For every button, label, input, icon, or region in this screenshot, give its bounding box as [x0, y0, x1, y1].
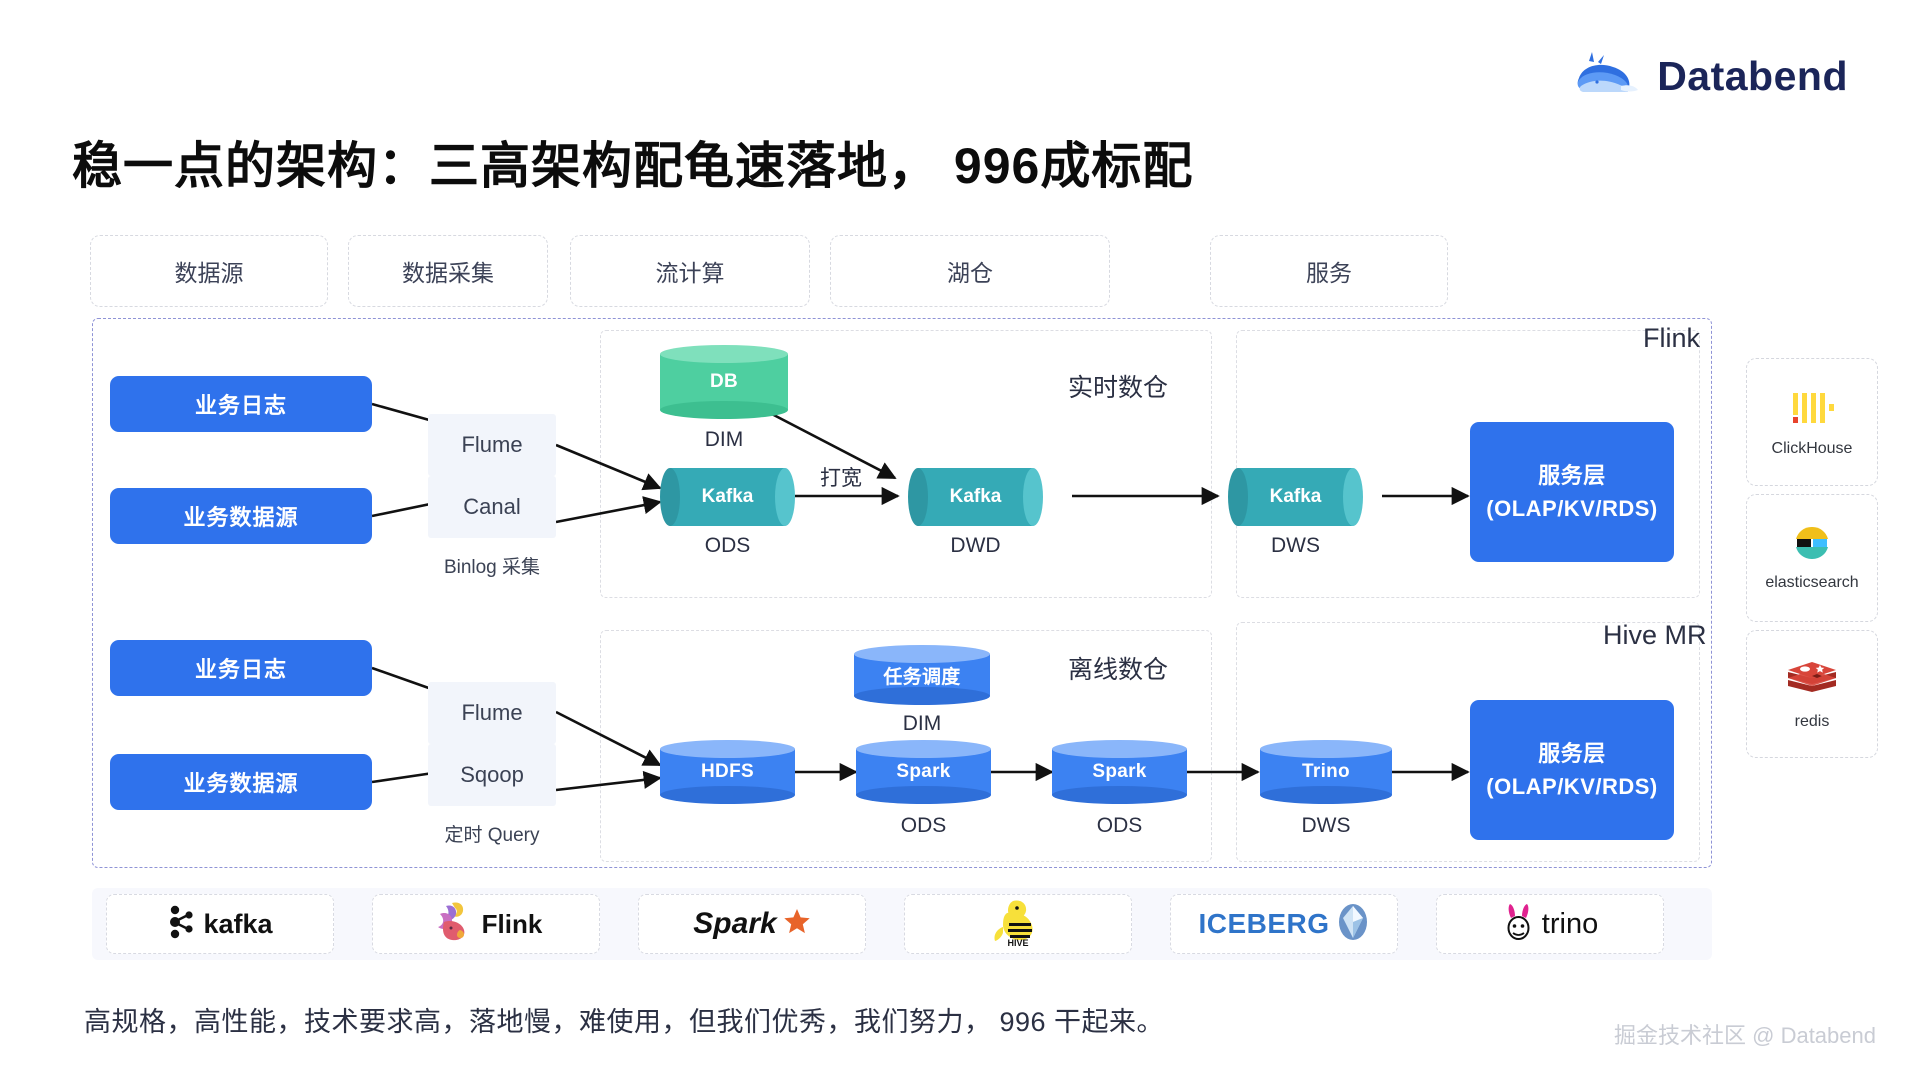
- cylinder-caption-dwd: DWD: [908, 534, 1043, 558]
- tech-card-kafka: kafka: [106, 894, 334, 954]
- cylinder-label: Kafka: [660, 468, 795, 526]
- cylinder-label: HDFS: [660, 749, 795, 795]
- sidebar-card-label: redis: [1795, 713, 1830, 731]
- tech-card-label: Flink: [482, 909, 543, 940]
- collector-label: Flume: [461, 700, 522, 726]
- cylinder-hdfs: HDFS: [660, 740, 795, 804]
- stage-label: 流计算: [656, 254, 725, 288]
- stage-header-row: 数据源 数据采集 流计算 湖仓 服务: [90, 235, 1790, 307]
- collector-note-scheduled-query: 定时 Query: [418, 820, 566, 847]
- collector-chip-canal: Canal: [428, 476, 556, 538]
- cylinder-label: Trino: [1260, 749, 1392, 795]
- source-box-business-log-realtime: 业务日志: [110, 376, 372, 432]
- source-label: 业务日志: [195, 388, 287, 420]
- collector-chip-sqoop: Sqoop: [428, 744, 556, 806]
- cylinder-task-scheduler-dim: 任务调度: [854, 645, 990, 705]
- cylinder-label: Kafka: [908, 468, 1043, 526]
- service-layer-box-offline: 服务层 (OLAP/KV/RDS): [1470, 700, 1674, 840]
- collector-chip-flume-realtime: Flume: [428, 414, 556, 476]
- cylinder-label: Spark: [1052, 749, 1187, 795]
- cylinder-label: Kafka: [1228, 468, 1363, 526]
- service-layer-title: 服务层: [1538, 737, 1606, 770]
- tech-card-spark: Spark: [638, 894, 866, 954]
- hive-icon: HIVE: [987, 897, 1049, 952]
- cylinder-trino-dws: Trino: [1260, 740, 1392, 804]
- stage-chip-streaming: 流计算: [570, 235, 810, 307]
- collector-label: Flume: [461, 432, 522, 458]
- source-box-business-data-realtime: 业务数据源: [110, 488, 372, 544]
- tech-card-label: ICEBERG: [1198, 908, 1329, 940]
- svg-text:HIVE: HIVE: [1007, 938, 1028, 947]
- tech-card-flink: Flink: [372, 894, 600, 954]
- tech-card-label: trino: [1542, 908, 1598, 941]
- cylinder-spark-ods-2: Spark: [1052, 740, 1187, 804]
- clickhouse-icon: [1789, 387, 1835, 432]
- stage-label: 湖仓: [947, 254, 993, 288]
- source-box-business-data-offline: 业务数据源: [110, 754, 372, 810]
- redis-icon: [1786, 658, 1838, 705]
- cylinder-caption-ods-2: ODS: [1052, 814, 1187, 838]
- source-label: 业务日志: [195, 652, 287, 684]
- brand-name: Databend: [1657, 53, 1848, 100]
- cylinder-kafka-dwd: Kafka: [908, 468, 1043, 526]
- stage-chip-datasource: 数据源: [90, 235, 328, 307]
- cylinder-caption-ods-1: ODS: [856, 814, 991, 838]
- cylinder-caption-ods-realtime: ODS: [660, 534, 795, 558]
- sidebar-card-clickhouse: ClickHouse: [1746, 358, 1878, 486]
- cylinder-caption-dim-offline: DIM: [854, 712, 990, 736]
- cylinder-kafka-ods: Kafka: [660, 468, 795, 526]
- watermark: 掘金技术社区 @ Databend: [1614, 1018, 1876, 1050]
- tech-card-label: Spark: [693, 907, 776, 941]
- lane-label-flink: Flink: [1643, 323, 1700, 354]
- flink-icon: [430, 900, 476, 949]
- section-label-realtime: 实时数仓: [1068, 368, 1168, 404]
- stage-label: 服务: [1306, 254, 1352, 288]
- sidebar-card-label: ClickHouse: [1772, 440, 1853, 458]
- service-layer-subtitle: (OLAP/KV/RDS): [1486, 770, 1658, 803]
- spark-icon: [783, 908, 811, 941]
- stage-chip-lakehouse: 湖仓: [830, 235, 1110, 307]
- tech-card-iceberg: ICEBERG: [1170, 894, 1398, 954]
- collector-chip-flume-offline: Flume: [428, 682, 556, 744]
- stage-chip-service: 服务: [1210, 235, 1448, 307]
- sidebar-card-redis: redis: [1746, 630, 1878, 758]
- tech-card-hive: HIVE: [904, 894, 1132, 954]
- summary-caption: 高规格，高性能，技术要求高，落地慢，难使用，但我们优秀，我们努力， 996 干起…: [84, 1000, 1164, 1039]
- elasticsearch-icon: [1794, 525, 1830, 566]
- service-layer-subtitle: (OLAP/KV/RDS): [1486, 492, 1658, 525]
- service-layer-box-realtime: 服务层 (OLAP/KV/RDS): [1470, 422, 1674, 562]
- source-label: 业务数据源: [183, 500, 298, 532]
- whale-icon: [1571, 48, 1643, 104]
- cylinder-label: 任务调度: [854, 654, 990, 696]
- tech-card-label: kafka: [203, 909, 272, 940]
- stage-label: 数据采集: [402, 254, 494, 288]
- source-box-business-log-offline: 业务日志: [110, 640, 372, 696]
- page-title: 稳一点的架构：三高架构配龟速落地， 996成标配: [72, 126, 1193, 198]
- stage-label: 数据源: [175, 254, 244, 288]
- trino-icon: [1502, 902, 1536, 947]
- iceberg-icon: [1336, 903, 1370, 946]
- kafka-icon: [167, 904, 197, 945]
- service-layer-title: 服务层: [1538, 459, 1606, 492]
- tech-card-trino: trino: [1436, 894, 1664, 954]
- stage-chip-collection: 数据采集: [348, 235, 548, 307]
- collector-label: Canal: [463, 494, 520, 520]
- sidebar-card-elasticsearch: elasticsearch: [1746, 494, 1878, 622]
- brand-logo: Databend: [1571, 48, 1848, 104]
- cylinder-spark-ods-1: Spark: [856, 740, 991, 804]
- cylinder-label: DB: [660, 354, 788, 410]
- source-label: 业务数据源: [183, 766, 298, 798]
- cylinder-caption-dws-realtime: DWS: [1228, 534, 1363, 558]
- collector-label: Sqoop: [460, 762, 524, 788]
- edge-note-widen: 打宽: [820, 462, 862, 492]
- cylinder-caption-dim-realtime: DIM: [660, 428, 788, 452]
- cylinder-db-dim: DB: [660, 345, 788, 419]
- sidebar-card-label: elasticsearch: [1765, 574, 1858, 592]
- section-label-offline: 离线数仓: [1068, 650, 1168, 686]
- cylinder-caption-dws-offline: DWS: [1260, 814, 1392, 838]
- collector-note-binlog: Binlog 采集: [428, 552, 556, 579]
- tech-logo-strip: kafka Flink Spark: [92, 888, 1712, 960]
- cylinder-label: Spark: [856, 749, 991, 795]
- cylinder-kafka-dws: Kafka: [1228, 468, 1363, 526]
- slide-root: Databend 稳一点的架构：三高架构配龟速落地， 996成标配 数据源 数据…: [0, 0, 1920, 1080]
- lane-label-hivemr: Hive MR: [1603, 620, 1707, 651]
